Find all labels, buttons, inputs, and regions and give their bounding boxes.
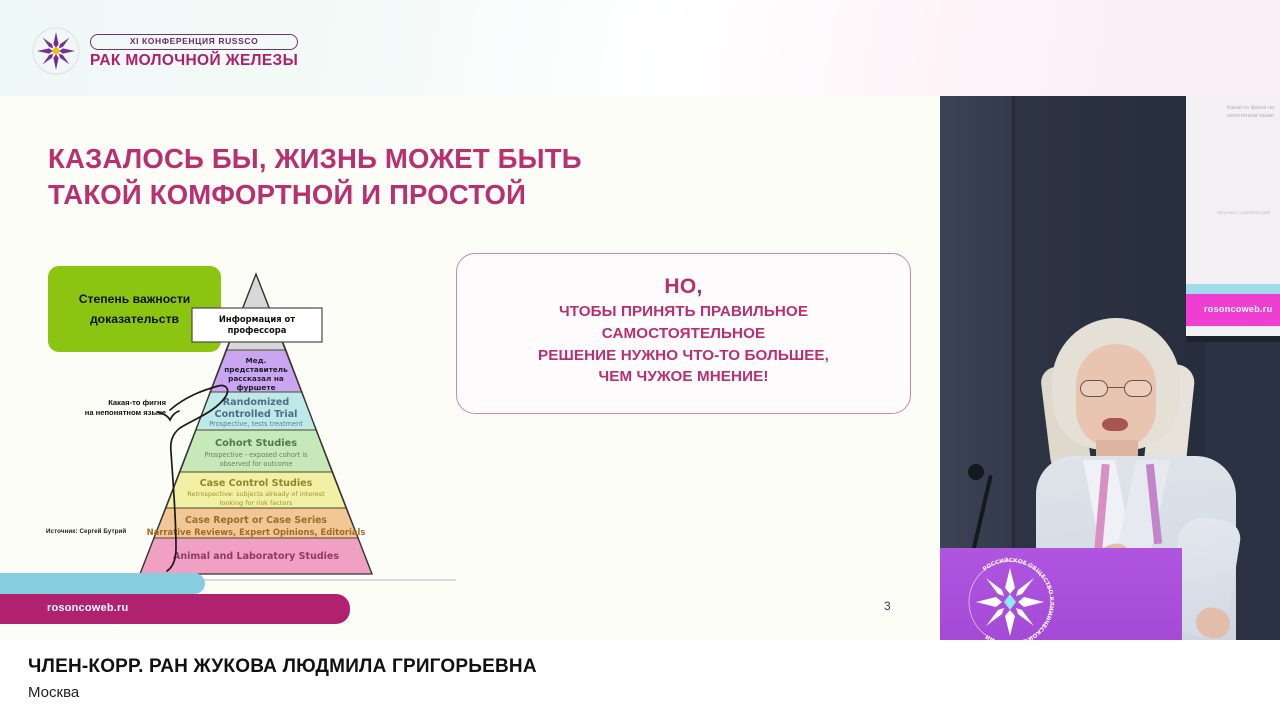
svg-text:looking for risk factors: looking for risk factors — [220, 499, 293, 507]
slide-page-number: 3 — [884, 599, 891, 613]
svg-text:Retrospective: subjects alread: Retrospective: subjects already of inter… — [187, 490, 325, 498]
but-message-card: НО, ЧТОБЫ ПРИНЯТЬ ПРАВИЛЬНОЕ САМОСТОЯТЕЛ… — [456, 253, 911, 414]
speaker-video-panel[interactable]: Какая-то фигня на непонятном языке Источ… — [940, 96, 1280, 640]
projection-teal-bar — [1186, 284, 1280, 294]
pyramid-annotation-line-2: на непонятном языке — [68, 408, 166, 418]
speaker-mouth — [1102, 418, 1128, 431]
but-card-header-word: НО — [664, 275, 696, 298]
podium: РОССИЙСКОЕ ОБЩЕСТВО КЛИНИЧЕСКОЙ ОНКОЛОГИ… — [940, 548, 1182, 640]
pyramid-annotation: Какая-то фигня на непонятном языке — [68, 398, 166, 418]
svg-text:Controlled Trial: Controlled Trial — [215, 409, 298, 420]
projection-bar-text: rosoncoweb.ru — [1204, 304, 1272, 314]
svg-text:Animal and Laboratory Studies: Animal and Laboratory Studies — [173, 551, 339, 562]
pyramid-source: Источник: Сергей Бутрий — [46, 528, 126, 535]
speaker-name: ЧЛЕН-КОРР. РАН ЖУКОВА ЛЮДМИЛА ГРИГОРЬЕВН… — [28, 656, 537, 678]
russco-star-logo-icon: РОССИЙСКОЕ ОБЩЕСТВО КЛИНИЧЕСКОЙ ОНКОЛОГИ… — [962, 554, 1058, 640]
svg-text:observed for outcome: observed for outcome — [220, 460, 293, 468]
conference-header: XI КОНФЕРЕНЦИЯ RUSSCO РАК МОЛОЧНОЙ ЖЕЛЕЗ… — [0, 0, 1280, 96]
microphone-head-icon — [968, 464, 984, 480]
projection-blur-text-1: Какая-то фигня на непонятном языке — [1202, 104, 1274, 121]
glasses-lens-left — [1080, 380, 1108, 397]
svg-text:Prospective, tests treatment: Prospective, tests treatment — [209, 420, 303, 428]
svg-text:Case Control Studies: Case Control Studies — [200, 478, 313, 489]
but-card-header: НО, — [664, 275, 702, 298]
svg-text:фуршете: фуршете — [236, 383, 275, 392]
slide-title-line-2: ТАКОЙ КОМФОРТНОЙ И ПРОСТОЙ — [48, 177, 668, 213]
svg-text:Cohort Studies: Cohort Studies — [215, 438, 297, 449]
svg-text:Информация от: Информация от — [219, 314, 295, 324]
svg-text:рассказал на: рассказал на — [228, 374, 284, 383]
projection-blur-text-2: Источник: Сергей Бутрий — [1210, 210, 1270, 215]
conference-badge: XI КОНФЕРЕНЦИЯ RUSSCO — [90, 34, 298, 50]
footer-teal-bar — [0, 573, 205, 594]
conference-title: РАК МОЛОЧНОЙ ЖЕЛЕЗЫ — [90, 53, 298, 69]
svg-text:Randomized: Randomized — [223, 397, 290, 408]
glasses-lens-right — [1124, 380, 1152, 397]
svg-text:Мед.: Мед. — [246, 356, 267, 365]
slide-title-line-1: КАЗАЛОСЬ БЫ, ЖИЗНЬ МОЖЕТ БЫТЬ — [48, 141, 668, 177]
svg-text:Case Report or Case Series: Case Report or Case Series — [185, 515, 327, 526]
svg-text:представитель: представитель — [224, 365, 288, 374]
but-card-line-2: САМОСТОЯТЕЛЬНОЕ — [602, 323, 765, 345]
slide-title: КАЗАЛОСЬ БЫ, ЖИЗНЬ МОЖЕТ БЫТЬ ТАКОЙ КОМФ… — [48, 141, 668, 214]
russco-star-emblem-icon — [31, 26, 81, 76]
background-projection-screen: Какая-то фигня на непонятном языке Источ… — [1186, 96, 1280, 336]
speaker-glasses-icon — [1080, 380, 1152, 398]
but-card-line-3: РЕШЕНИЕ НУЖНО ЧТО-ТО БОЛЬШЕЕ, — [538, 345, 829, 367]
footer-website-url: rosoncoweb.ru — [47, 602, 128, 614]
but-card-line-1: ЧТОБЫ ПРИНЯТЬ ПРАВИЛЬНОЕ — [559, 301, 808, 323]
slide-viewer: XI КОНФЕРЕНЦИЯ RUSSCO РАК МОЛОЧНОЙ ЖЕЛЕЗ… — [0, 0, 1280, 720]
but-card-header-comma: , — [696, 275, 702, 298]
but-card-line-4: ЧЕМ ЧУЖОЕ МНЕНИЕ! — [598, 366, 768, 388]
speaker-city: Москва — [28, 684, 79, 701]
svg-text:профессора: профессора — [228, 325, 287, 335]
conference-logo: XI КОНФЕРЕНЦИЯ RUSSCO РАК МОЛОЧНОЙ ЖЕЛЕЗ… — [31, 26, 298, 76]
presentation-slide: КАЗАЛОСЬ БЫ, ЖИЗНЬ МОЖЕТ БЫТЬ ТАКОЙ КОМФ… — [0, 96, 940, 640]
svg-text:Narrative Reviews, Expert Opin: Narrative Reviews, Expert Opinions, Edit… — [147, 527, 366, 537]
pyramid-annotation-line-1: Какая-то фигня — [68, 398, 166, 408]
speaker-caption-bar: ЧЛЕН-КОРР. РАН ЖУКОВА ЛЮДМИЛА ГРИГОРЬЕВН… — [0, 640, 1280, 720]
svg-text:Prospective - exposed cohort i: Prospective - exposed cohort is — [204, 451, 308, 459]
glasses-bridge — [1108, 387, 1124, 388]
